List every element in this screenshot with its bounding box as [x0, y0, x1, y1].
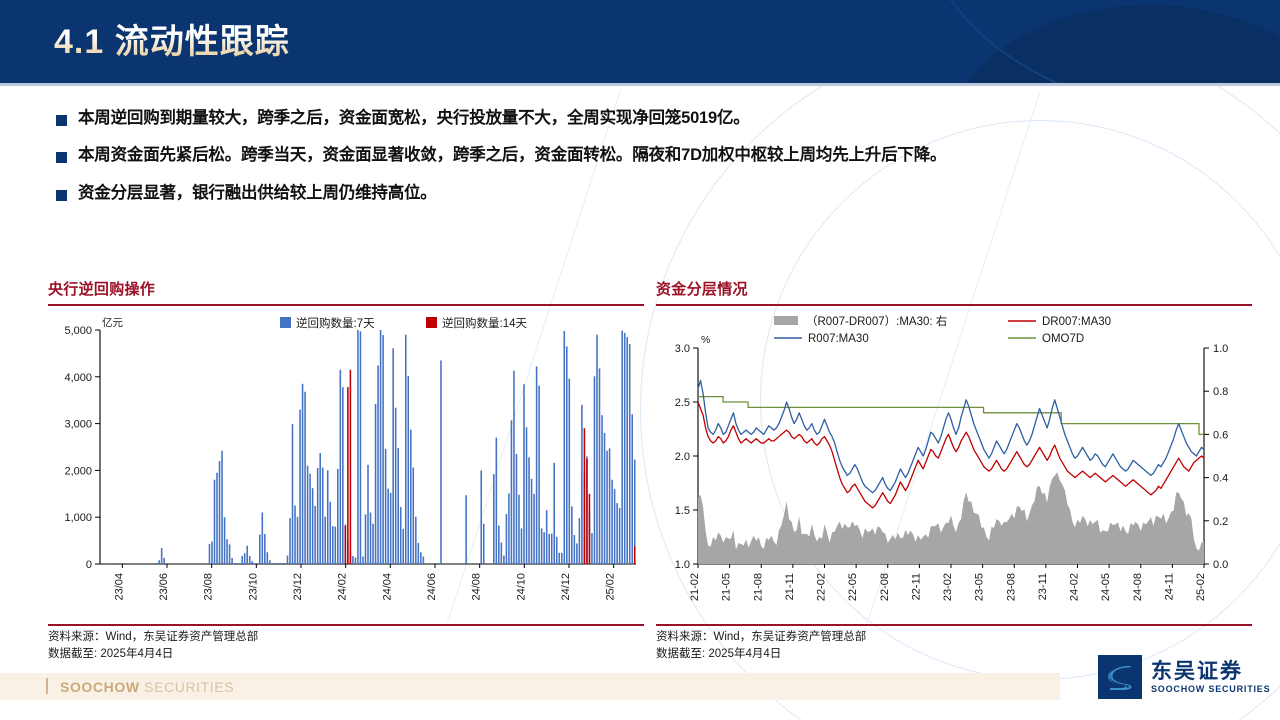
- svg-text:1,000: 1,000: [64, 512, 92, 524]
- logo-text: 东吴证券 SOOCHOW SECURITIES: [1151, 661, 1270, 694]
- svg-text:4,000: 4,000: [64, 372, 92, 384]
- header-underline: [0, 83, 1280, 86]
- svg-text:0.6: 0.6: [1213, 430, 1228, 442]
- svg-text:23-05: 23-05: [974, 573, 986, 601]
- svg-text:5,000: 5,000: [64, 325, 92, 337]
- svg-text:逆回购数量:7天: 逆回购数量:7天: [296, 316, 375, 330]
- svg-text:24/06: 24/06: [426, 573, 438, 601]
- svg-text:25-02: 25-02: [1195, 573, 1207, 601]
- line-chart-funding-stratification: 1.01.52.02.53.00.00.20.40.60.81.0%21-022…: [656, 312, 1252, 622]
- svg-text:24-11: 24-11: [1163, 573, 1175, 600]
- svg-text:%: %: [701, 334, 710, 346]
- page-title: 4.1 流动性跟踪: [54, 14, 290, 63]
- bullet-list: 本周逆回购到期量较大，跨季之后，资金面宽松，央行投放量不大，全周实现净回笼501…: [56, 108, 1256, 220]
- svg-text:3,000: 3,000: [64, 419, 92, 431]
- svg-text:0.8: 0.8: [1213, 386, 1228, 398]
- svg-text:2.5: 2.5: [675, 397, 690, 409]
- svg-text:24-05: 24-05: [1100, 573, 1112, 601]
- svg-text:22-02: 22-02: [816, 573, 828, 601]
- bullet-text: 本周资金面先紧后松。跨季当天，资金面显著收敛，跨季之后，资金面转松。隔夜和7D加…: [78, 145, 946, 166]
- svg-text:23-08: 23-08: [1005, 573, 1017, 601]
- svg-text:3.0: 3.0: [675, 343, 690, 355]
- list-item: 本周资金面先紧后松。跨季当天，资金面显著收敛，跨季之后，资金面转松。隔夜和7D加…: [56, 145, 1256, 166]
- svg-text:1.5: 1.5: [675, 505, 690, 517]
- svg-text:23/06: 23/06: [158, 573, 170, 601]
- panel-title: 资金分层情况: [656, 278, 1252, 304]
- source-line-2: 数据截至: 2025年4月4日: [48, 646, 644, 663]
- svg-text:24-02: 24-02: [1069, 573, 1081, 601]
- svg-text:OMO7D: OMO7D: [1042, 333, 1084, 345]
- footer-divider: [46, 678, 48, 694]
- svg-text:23/12: 23/12: [292, 573, 304, 601]
- logo-text-en: SOOCHOW SECURITIES: [1151, 685, 1270, 694]
- svg-text:逆回购数量:14天: 逆回购数量:14天: [442, 316, 527, 330]
- panel-title: 央行逆回购操作: [48, 278, 644, 304]
- header-arc-shape: [920, 0, 1280, 83]
- source-note: 资料来源：Wind，东吴证券资产管理总部 数据截至: 2025年4月4日: [48, 626, 644, 662]
- svg-text:24/10: 24/10: [515, 573, 527, 601]
- logo-swoosh-icon: [1098, 655, 1142, 699]
- svg-text:21-08: 21-08: [752, 573, 764, 601]
- svg-text:DR007:MA30: DR007:MA30: [1042, 316, 1111, 328]
- svg-text:2.0: 2.0: [675, 451, 690, 463]
- svg-text:22-08: 22-08: [879, 573, 891, 601]
- list-item: 本周逆回购到期量较大，跨季之后，资金面宽松，央行投放量不大，全周实现净回笼501…: [56, 108, 1256, 129]
- square-bullet-icon: [56, 115, 67, 126]
- svg-text:23-02: 23-02: [942, 573, 954, 601]
- svg-text:0.4: 0.4: [1213, 473, 1228, 485]
- source-line-1: 资料来源：Wind，东吴证券资产管理总部: [656, 629, 1252, 646]
- slide-root: 4.1 流动性跟踪 本周逆回购到期量较大，跨季之后，资金面宽松，央行投放量不大，…: [0, 0, 1280, 720]
- svg-text:R007:MA30: R007:MA30: [808, 333, 869, 345]
- svg-text:24/02: 24/02: [337, 573, 349, 601]
- svg-text:22-11: 22-11: [910, 573, 922, 600]
- bullet-text: 本周逆回购到期量较大，跨季之后，资金面宽松，央行投放量不大，全周实现净回笼501…: [78, 108, 750, 129]
- svg-text:0: 0: [86, 559, 92, 571]
- svg-text:21-05: 21-05: [721, 573, 733, 601]
- bar-chart-reverse-repo: 01,0002,0003,0004,0005,000亿元23/0423/0623…: [48, 312, 644, 622]
- svg-text:2,000: 2,000: [64, 466, 92, 478]
- svg-text:24/04: 24/04: [381, 573, 393, 601]
- svg-text:21-11: 21-11: [784, 573, 796, 600]
- svg-text:21-02: 21-02: [689, 573, 701, 601]
- footer-brand-light: SECURITIES: [144, 679, 234, 695]
- panel-title-rule: [656, 304, 1252, 306]
- svg-text:22-05: 22-05: [847, 573, 859, 601]
- svg-text:24-08: 24-08: [1132, 573, 1144, 601]
- svg-text:0.2: 0.2: [1213, 516, 1228, 528]
- logo-mark-icon: [1098, 655, 1142, 699]
- line-chart-svg: 1.01.52.02.53.00.00.20.40.60.81.0%21-022…: [656, 312, 1252, 622]
- svg-text:24/12: 24/12: [560, 573, 572, 601]
- svg-text:24/08: 24/08: [471, 573, 483, 601]
- svg-text:1.0: 1.0: [1213, 343, 1228, 355]
- chart-panel-reverse-repo: 央行逆回购操作 01,0002,0003,0004,0005,000亿元23/0…: [48, 278, 644, 668]
- logo-text-cn: 东吴证券: [1151, 661, 1270, 682]
- source-line-1: 资料来源：Wind，东吴证券资产管理总部: [48, 629, 644, 646]
- company-logo: 东吴证券 SOOCHOW SECURITIES: [1098, 655, 1270, 699]
- bar-chart-svg: 01,0002,0003,0004,0005,000亿元23/0423/0623…: [48, 312, 644, 622]
- chart-panel-funding-stratification: 资金分层情况 1.01.52.02.53.00.00.20.40.60.81.0…: [656, 278, 1252, 668]
- svg-text:1.0: 1.0: [675, 559, 690, 571]
- list-item: 资金分层显著，银行融出供给较上周仍维持高位。: [56, 183, 1256, 204]
- svg-text:23/08: 23/08: [203, 573, 215, 601]
- svg-text:（R007-DR007）:MA30: 右: （R007-DR007）:MA30: 右: [806, 314, 947, 328]
- svg-text:0.0: 0.0: [1213, 559, 1228, 571]
- svg-text:23/10: 23/10: [247, 573, 259, 601]
- square-bullet-icon: [56, 152, 67, 163]
- footer-brand: SOOCHOW SECURITIES: [60, 679, 234, 695]
- svg-text:23-11: 23-11: [1037, 573, 1049, 600]
- svg-text:23/04: 23/04: [113, 573, 125, 601]
- bullet-text: 资金分层显著，银行融出供给较上周仍维持高位。: [78, 183, 437, 204]
- footer-brand-bold: SOOCHOW: [60, 679, 140, 695]
- square-bullet-icon: [56, 190, 67, 201]
- panel-title-rule: [48, 304, 644, 306]
- svg-text:25/02: 25/02: [605, 573, 617, 601]
- svg-text:亿元: 亿元: [102, 316, 123, 329]
